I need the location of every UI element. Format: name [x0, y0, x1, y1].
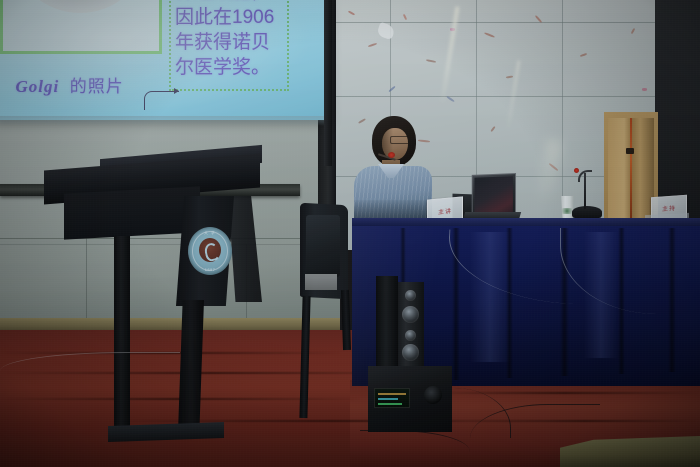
chair-highlight	[305, 274, 337, 290]
wall-paper-scrap	[376, 22, 396, 40]
slide-caption: : Golgi 的照片	[0, 72, 124, 97]
name-card-left-text: 主讲	[428, 205, 462, 217]
light-glare	[537, 139, 562, 201]
tweeter-driver	[405, 330, 416, 341]
desk-microphone-base[interactable]	[572, 206, 602, 218]
micrograph-photo-icon	[15, 0, 145, 13]
emblem-year: 1897	[188, 267, 232, 272]
paper-cup-logo	[562, 208, 572, 214]
tower-speaker	[398, 282, 424, 368]
door-handle-icon[interactable]	[626, 148, 634, 154]
slide-caption-latin: Golgi	[15, 77, 59, 96]
slide-textbox-line: 因此在1906	[175, 5, 283, 30]
subwoofer-port	[424, 386, 442, 404]
seated-speaker	[352, 116, 438, 232]
slide-photo-frame	[0, 0, 162, 54]
desk-microphone-tip	[574, 168, 579, 173]
light-glare	[507, 60, 521, 130]
slide-textbox: 神经细胞， 因此在1906 年获得诺贝 尔医学奖。	[169, 0, 289, 91]
name-card-right-text: 主持	[652, 202, 686, 213]
slide-textbox-line: 尔医学奖。	[175, 55, 283, 80]
screen-right-edge	[324, 0, 332, 166]
slide-textbox-line: 年获得诺贝	[175, 30, 283, 55]
chair-pad	[306, 215, 340, 277]
screen-bottom-shadow	[0, 116, 330, 126]
slide-caption-suffix: 的照片	[70, 77, 124, 96]
amplifier-display[interactable]	[374, 388, 410, 408]
lecture-hall-photo: : Golgi 的照片 神经细胞， 因此在1906 年获得诺贝 尔医学奖。 大 …	[0, 0, 700, 467]
headset-mic-tip	[388, 152, 395, 158]
tweeter-driver	[405, 290, 416, 301]
slide-callout-arrow-icon	[174, 88, 179, 94]
woofer-driver	[402, 344, 419, 361]
light-glare	[441, 6, 460, 101]
desk-microphone-bend	[578, 170, 592, 182]
chair-leg	[341, 290, 351, 350]
podium-leg	[114, 236, 130, 432]
woofer-driver	[402, 306, 419, 323]
university-emblem: 大 学 1897	[188, 227, 232, 275]
emblem-top-text: 大 学	[188, 231, 232, 236]
glasses-icon	[390, 136, 410, 144]
door-seam	[630, 118, 632, 220]
projection-screen: : Golgi 的照片 神经细胞， 因此在1906 年获得诺贝 尔医学奖。	[0, 0, 330, 120]
podium-body	[64, 186, 200, 239]
emblem-core	[199, 238, 221, 262]
tower-speaker	[376, 276, 398, 368]
